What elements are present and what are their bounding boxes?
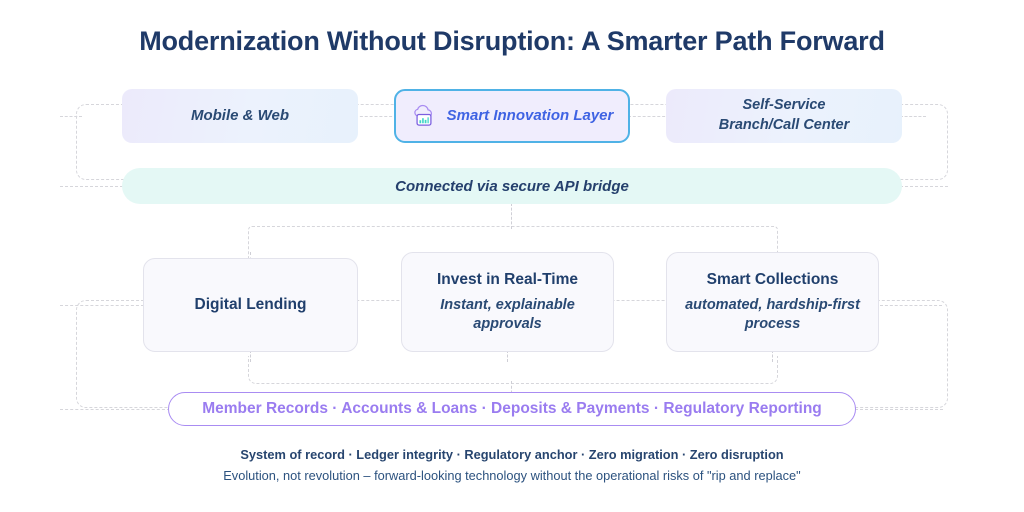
caption-primary: System of record · Ledger integrity · Re… [0,447,1024,462]
channel-self-service-line-1: Self-Service [742,97,825,113]
connector-dash-right-top [900,116,926,117]
connector-dash-right-bridge [900,186,948,187]
channel-mobile-web[interactable]: Mobile & Web [122,89,358,143]
connector-dash-channel-1-2 [355,116,397,117]
capability-card-smart-collections[interactable]: Smart Collections automated, hardship-fi… [666,252,879,352]
connector-dash-left-top [60,116,82,117]
channel-self-service-label: Self-Service Branch/Call Center [719,96,850,135]
connector-dash-right-card [880,305,942,306]
channel-self-service[interactable]: Self-Service Branch/Call Center [666,89,902,143]
connector-bridge-to-rail [511,203,512,229]
diagram-canvas: Modernization Without Disruption: A Smar… [0,0,1024,512]
capability-card-title: Smart Collections [707,270,839,289]
capability-card-digital-lending[interactable]: Digital Lending [143,258,358,352]
connector-dash-left-bridge [60,186,128,187]
connector-dash-channel-2-3 [628,116,670,117]
capability-card-title: Invest in Real-Time [437,270,578,289]
page-title: Modernization Without Disruption: A Smar… [0,26,1024,57]
channel-self-service-line-2: Branch/Call Center [719,117,850,133]
caption-secondary: Evolution, not revolution – forward-look… [0,468,1024,483]
channel-smart-innovation-layer-label: Smart Innovation Layer [447,106,614,126]
channel-smart-innovation-layer[interactable]: Smart Innovation Layer [394,89,630,143]
core-system-label: Member Records · Accounts & Loans · Depo… [202,400,822,418]
api-bridge-label: Connected via secure API bridge [395,178,629,195]
capability-card-invest-real-time[interactable]: Invest in Real-Time Instant, explainable… [401,252,614,352]
connector-dash-left-card [60,305,144,306]
connector-dash-right-core [855,409,943,410]
capability-card-subtitle: automated, hardship-first process [681,296,864,334]
api-bridge-bar: Connected via secure API bridge [122,168,902,204]
capability-card-title: Digital Lending [195,295,307,314]
capability-lower-rail [248,356,778,384]
capability-card-subtitle: Instant, explainable approvals [416,296,599,334]
core-system-pill: Member Records · Accounts & Loans · Depo… [168,392,856,426]
channel-mobile-web-label: Mobile & Web [191,106,289,126]
connector-dash-left-core [60,409,170,410]
cloud-chart-icon [411,103,438,130]
